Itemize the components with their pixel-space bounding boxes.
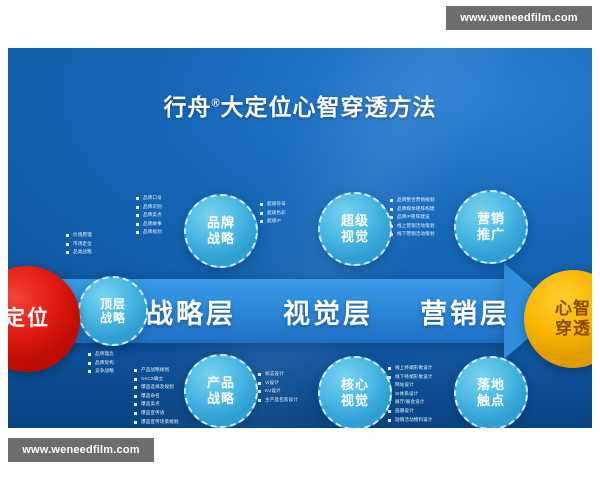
bullet-item: 画册设计 [388,407,433,416]
bullet-item: VI设计 [258,379,298,388]
bullet-item: 爆品宣传场景规划 [134,418,179,427]
bullet-item: 展厅/展会设计 [388,398,433,407]
bullet-item: 品牌媒体矩阵构建 [390,205,435,214]
diagram-board: 行舟®大定位心智穿透方法 战略层 视觉层 营销层 定位 心智 穿透 顶层 战略 … [8,48,592,428]
bullet-item: 网站设计 [388,381,433,390]
node-marketing-promotion: 营销 推广 [454,190,528,264]
bullet-item: 产品战略规划 [134,366,179,375]
bullet-item: 标志设计 [258,370,298,379]
bullet-group-idea: 品牌理念品牌架构竞争战略 [88,350,114,376]
node-landing-touchpoint: 落地 触点 [454,356,528,428]
end-cap-label-line1: 心智 [555,299,591,319]
bullet-group-visual-design: 标志设计VI设计KV设计主产品包装设计 [258,370,298,404]
bullet-item: SI体系设计 [388,390,433,399]
bullet-item: 品牌识别 [136,203,162,212]
bullet-item: 品牌IP矩阵建设 [390,213,435,222]
node-label-line2: 视觉 [341,393,369,409]
node-label-line1: 核心 [341,377,369,393]
bullet-item: 品牌理念 [88,350,114,359]
node-label-line1: 产品 [207,375,235,391]
bullet-item: 动销活动物料设计 [388,416,433,425]
node-label-line1: 营销 [477,211,505,227]
node-label-line1: 品牌 [207,215,235,231]
end-cap-label-line2: 穿透 [555,319,591,339]
bullet-item: 线上营销活动策划 [390,222,435,231]
bullet-group-product: 产品战略规划SACX确立爆品选择及规划爆品命名爆品卖点爆品宣传语爆品宣传场景规划 [134,366,179,426]
bullet-item: 品牌规划 [136,228,162,237]
layer-label-visual: 视觉层 [283,292,373,331]
node-label-line1: 落地 [477,377,505,393]
diagram-page: www.weneedfilm.com 行舟®大定位心智穿透方法 战略层 视觉层 … [0,0,600,480]
bullet-group-terminal-design: 线上终端形象设计线下终端形象设计网站设计SI体系设计展厅/展会设计画册设计动销活… [388,364,433,424]
node-label-line1: 顶层 [100,297,126,311]
bullet-item: 爆品宣传语 [134,409,179,418]
bullet-item: 线上终端形象设计 [388,364,433,373]
layer-label-marketing: 营销层 [420,292,510,331]
bullet-group-super-visual: 超级符号超级色彩超级IP [260,200,286,226]
watermark-bottom: www.weneedfilm.com [8,438,154,462]
node-label-line2: 触点 [477,393,505,409]
diagram-title: 行舟®大定位心智穿透方法 [8,88,592,122]
bullet-item: 市场定位 [66,240,92,249]
node-label-line2: 战略 [207,231,235,247]
bullet-item: 爆品选择及规划 [134,383,179,392]
watermark-top: www.weneedfilm.com [446,6,592,30]
node-label-line2: 视觉 [341,229,369,245]
bullet-item: 品牌整合营销规划 [390,196,435,205]
bullet-item: 品牌口号 [136,194,162,203]
node-product-strategy: 产品 战略 [184,354,258,428]
node-brand-strategy: 品牌 战略 [184,194,258,268]
bullet-group-value: 价值原理市场定位品类战略 [66,231,92,257]
node-super-visual: 超级 视觉 [318,192,392,266]
bullet-item: 竞争战略 [88,367,114,376]
registered-mark-icon: ® [211,97,220,109]
bullet-item: 爆品卖点 [134,400,179,409]
bullet-item: SACX确立 [134,375,179,384]
bullet-item: 品类战略 [66,248,92,257]
bullet-item: 价值原理 [66,231,92,240]
start-cap-label: 定位 [8,307,50,331]
bullet-item: 超级符号 [260,200,286,209]
layer-label-row: 战略层 视觉层 营销层 [138,279,518,343]
bullet-item: 线下营销活动策划 [390,230,435,239]
bullet-item: KV设计 [258,387,298,396]
diagram-title-rest: 大定位心智穿透方法 [221,94,437,120]
layer-label-strategy: 战略层 [146,292,236,331]
bullet-item: 爆品命名 [134,392,179,401]
bullet-item: 品牌故事 [136,220,162,229]
bullet-item: 线下终端形象设计 [388,373,433,382]
bullet-item: 超级IP [260,217,286,226]
node-label-line2: 推广 [477,227,505,243]
bullet-group-marketing: 品牌整合营销规划品牌媒体矩阵构建品牌IP矩阵建设线上营销活动策划线下营销活动策划 [390,196,435,239]
bullet-group-brand: 品牌口号品牌识别品牌卖点品牌故事品牌规划 [136,194,162,237]
bullet-item: 品牌架构 [88,359,114,368]
node-label-line1: 超级 [341,213,369,229]
diagram-title-brand: 行舟 [163,94,211,120]
bullet-item: 品牌卖点 [136,211,162,220]
node-core-visual: 核心 视觉 [318,356,392,428]
node-label-line2: 战略 [100,311,126,325]
node-top-strategy: 顶层 战略 [78,276,148,346]
bullet-item: 主产品包装设计 [258,396,298,405]
bullet-item: 超级色彩 [260,209,286,218]
node-label-line2: 战略 [207,391,235,407]
